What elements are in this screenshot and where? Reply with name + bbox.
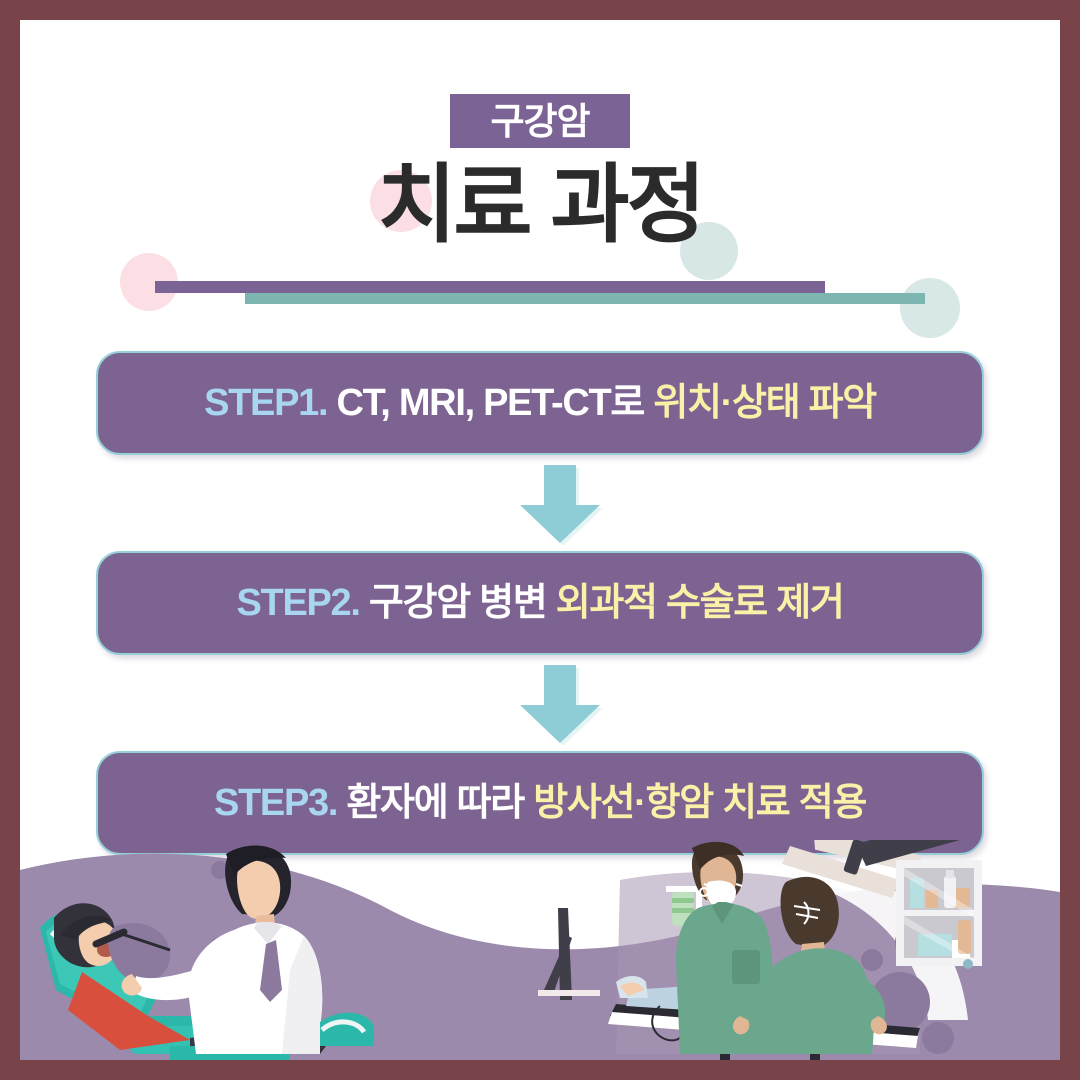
step-2-highlight-text: 외과적 수술로 제거 bbox=[556, 582, 844, 624]
step-3-text: STEP3. 환자에 따라 방사선·항암 치료 적용 bbox=[214, 784, 866, 822]
step-1-primary-text: CT, MRI, PET-CT로 bbox=[336, 382, 644, 424]
step-1-label: STEP1. bbox=[204, 382, 327, 424]
step-2-primary-text: 구강암 병변 bbox=[369, 582, 547, 624]
step-box-2[interactable]: STEP2. 구강암 병변 외과적 수술로 제거 bbox=[96, 551, 984, 655]
step-3-label: STEP3. bbox=[214, 782, 337, 824]
step-1-text: STEP1. CT, MRI, PET-CT로 위치·상태 파악 bbox=[204, 384, 876, 422]
arrow-down-icon bbox=[516, 665, 604, 745]
page-title: 치료 과정 bbox=[20, 160, 1060, 250]
header-badge-label: 구강암 bbox=[490, 103, 589, 140]
decorative-circle-teal bbox=[900, 278, 960, 338]
step-1-highlight-text: 위치·상태 파악 bbox=[653, 382, 876, 424]
header-badge: 구강암 bbox=[450, 94, 630, 148]
step-2-label: STEP2. bbox=[236, 582, 359, 624]
medicine-cabinet bbox=[896, 860, 982, 969]
footer-illustration bbox=[20, 840, 1060, 1060]
step-2-text: STEP2. 구강암 병변 외과적 수술로 제거 bbox=[236, 584, 843, 622]
arrow-down-icon bbox=[516, 465, 604, 545]
divider-bar-purple bbox=[155, 281, 825, 293]
step-3-highlight-text: 방사선·항암 치료 적용 bbox=[533, 782, 866, 824]
poster-frame: 구강암 치료 과정 STEP1. CT, MRI, PET-CT로 위치·상태 … bbox=[20, 20, 1060, 1060]
divider-bar-teal bbox=[245, 293, 925, 304]
step-3-primary-text: 환자에 따라 bbox=[346, 782, 524, 824]
step-box-1[interactable]: STEP1. CT, MRI, PET-CT로 위치·상태 파악 bbox=[96, 351, 984, 455]
